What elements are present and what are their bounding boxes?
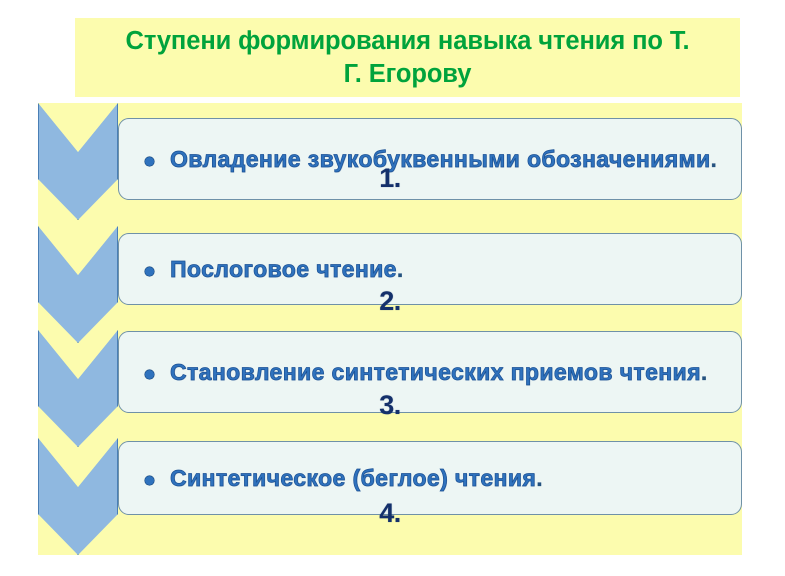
bullet-icon: [145, 370, 154, 379]
step-chevron-3[interactable]: [38, 330, 118, 447]
step-text-4: Синтетическое (беглое) чтения.: [170, 464, 543, 492]
step-chevron-1[interactable]: [38, 103, 118, 220]
chevron-fill-3: [39, 331, 117, 446]
page-title: Ступени формирования навыка чтения по Т.…: [126, 25, 690, 90]
step-text-tail-3: .: [701, 359, 708, 385]
step-number-4: 4.: [38, 500, 742, 527]
steps-panel: 1. Овладение звукобуквенными обозначения…: [38, 103, 742, 555]
bullet-icon: [145, 476, 154, 485]
step-text-2: Послоговое чтение.: [170, 255, 404, 283]
step-text-body-3: Становление синтетических приемов чтения: [170, 359, 701, 385]
step-chevron-2[interactable]: [38, 226, 118, 343]
step-text-tail-4: .: [536, 465, 543, 491]
step-text-body-4: Синтетическое (беглое) чтения: [170, 465, 536, 491]
page-title-line-1: Ступени формирования навыка чтения по Т.: [126, 25, 690, 58]
slide-canvas: Ступени формирования навыка чтения по Т.…: [0, 0, 785, 576]
step-row-4: Синтетическое (беглое) чтения.: [119, 464, 741, 492]
step-text-3: Становление синтетических приемов чтения…: [170, 358, 708, 386]
step-chevron-4[interactable]: [38, 438, 118, 555]
step-text-body-2: Послоговое чтение: [170, 256, 397, 282]
step-row-2: Послоговое чтение.: [119, 255, 741, 283]
step-number-3: 3.: [38, 392, 742, 419]
chevron-fill-2: [39, 227, 117, 342]
step-number-2: 2.: [38, 288, 742, 315]
title-banner: Ступени формирования навыка чтения по Т.…: [75, 18, 740, 97]
chevron-fill-1: [39, 104, 117, 219]
step-row-3: Становление синтетических приемов чтения…: [119, 358, 741, 386]
step-text-tail-2: .: [397, 256, 404, 282]
step-number-1: 1.: [38, 165, 742, 192]
chevron-fill-4: [39, 439, 117, 554]
bullet-icon: [145, 267, 154, 276]
page-title-line-2: Г. Егорову: [126, 58, 690, 91]
